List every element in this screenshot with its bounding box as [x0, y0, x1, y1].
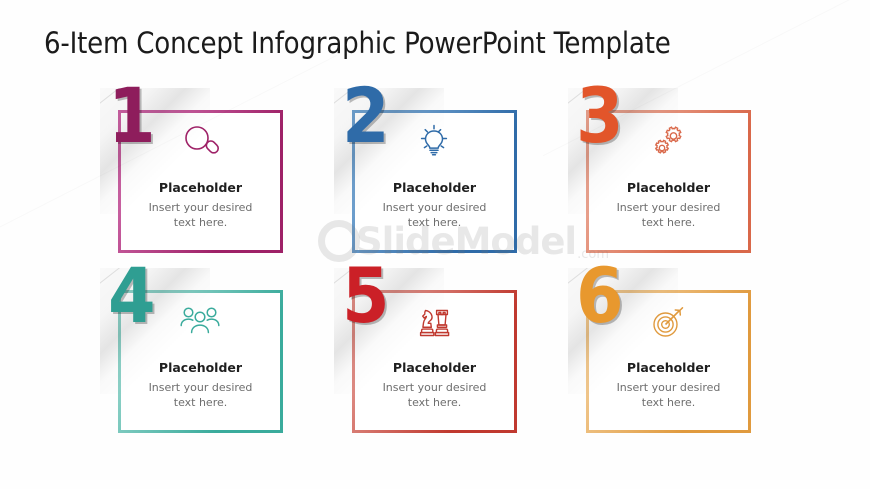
card-body: Insert your desired text here. — [586, 380, 751, 410]
card-body: Insert your desired text here. — [118, 200, 283, 230]
card-number: 6 — [576, 258, 622, 334]
card-body: Insert your desired text here. — [118, 380, 283, 410]
cards-grid: 1 Placeholder Insert your desired text h… — [0, 88, 870, 458]
slide-canvas: 6-Item Concept Infographic PowerPoint Te… — [0, 0, 870, 489]
card-title: Placeholder — [586, 180, 751, 195]
card-item[interactable]: 1 Placeholder Insert your desired text h… — [100, 88, 300, 263]
card-title: Placeholder — [118, 360, 283, 375]
card-item[interactable]: 4 Placeholder Insert your desired text h… — [100, 268, 300, 443]
page-title: 6-Item Concept Infographic PowerPoint Te… — [44, 26, 671, 60]
card-title: Placeholder — [352, 180, 517, 195]
card-number: 4 — [108, 258, 154, 334]
card-item[interactable]: 6 Placeholder Insert your desired text h… — [568, 268, 768, 443]
card-number: 2 — [342, 78, 388, 154]
card-body: Insert your desired text here. — [352, 380, 517, 410]
card-item[interactable]: 5 — [334, 268, 534, 443]
card-body: Insert your desired text here. — [352, 200, 517, 230]
card-item[interactable]: 3 Placeholder Insert your desired text h… — [568, 88, 768, 263]
card-number: 3 — [576, 78, 622, 154]
card-item[interactable]: 2 — [334, 88, 534, 263]
card-number: 1 — [108, 78, 154, 154]
card-title: Placeholder — [118, 180, 283, 195]
card-title: Placeholder — [352, 360, 517, 375]
card-number: 5 — [342, 258, 388, 334]
card-title: Placeholder — [586, 360, 751, 375]
card-body: Insert your desired text here. — [586, 200, 751, 230]
